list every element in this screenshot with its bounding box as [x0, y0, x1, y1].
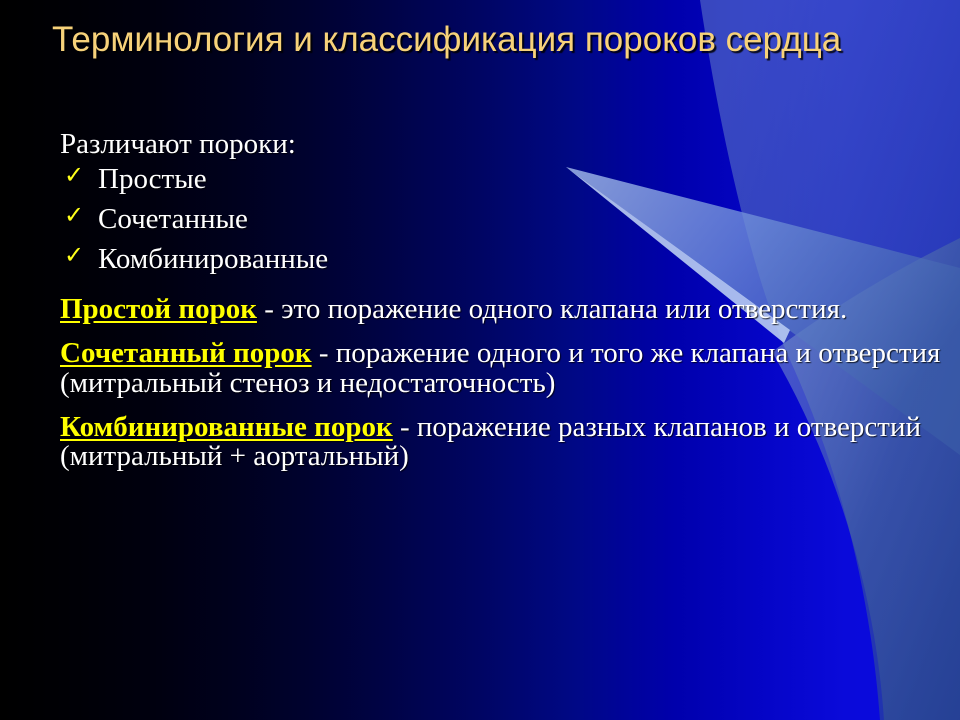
definition-term: Комбинированные порок	[60, 411, 393, 443]
slide-body: Различают пороки: ✓ Простые ✓ Сочетанные…	[52, 130, 942, 486]
list-item-label: Комбинированные	[98, 243, 328, 275]
check-icon: ✓	[64, 203, 84, 227]
definition-term: Сочетанный порок	[60, 337, 312, 369]
definition-text: - это поражение одного клапана или отвер…	[257, 293, 847, 325]
list-item: ✓ Сочетанные	[52, 205, 942, 245]
list-item-label: Простые	[98, 163, 207, 195]
definition-term: Простой порок	[60, 293, 257, 325]
lead-text: Различают пороки:	[52, 130, 942, 159]
check-icon: ✓	[64, 243, 84, 267]
list-item: ✓ Комбинированные	[52, 245, 942, 285]
definition-paragraph: Сочетанный порок - поражение одного и то…	[52, 339, 942, 399]
check-icon: ✓	[64, 163, 84, 187]
definition-paragraph: Простой порок - это поражение одного кла…	[52, 295, 942, 325]
list-item-label: Сочетанные	[98, 203, 248, 235]
definition-paragraph: Комбинированные порок - поражение разных…	[52, 413, 942, 473]
bullet-list: ✓ Простые ✓ Сочетанные ✓ Комбинированные	[52, 165, 942, 285]
list-item: ✓ Простые	[52, 165, 942, 205]
slide-canvas: Терминология и классификация пороков сер…	[0, 0, 960, 720]
page-title: Терминология и классификация пороков сер…	[52, 18, 932, 62]
